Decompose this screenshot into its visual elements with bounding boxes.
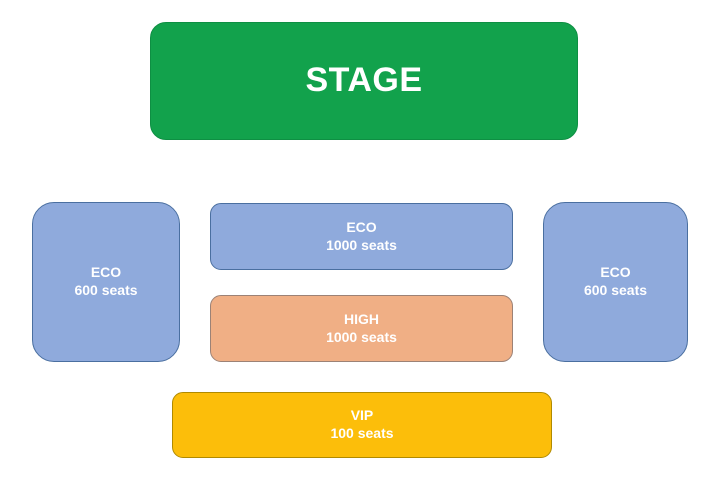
section-tier-label: VIP bbox=[351, 407, 374, 425]
section-eco-center[interactable]: ECO 1000 seats bbox=[210, 203, 513, 270]
section-vip-bottom[interactable]: VIP 100 seats bbox=[172, 392, 552, 458]
section-eco-right[interactable]: ECO 600 seats bbox=[543, 202, 688, 362]
section-capacity-label: 600 seats bbox=[584, 282, 647, 300]
section-capacity-label: 600 seats bbox=[74, 282, 137, 300]
section-tier-label: ECO bbox=[91, 264, 121, 282]
section-capacity-label: 100 seats bbox=[330, 425, 393, 443]
seating-map: STAGE ECO 600 seats ECO 1000 seats HIGH … bbox=[0, 0, 720, 480]
section-capacity-label: 1000 seats bbox=[326, 329, 397, 347]
stage-block[interactable]: STAGE bbox=[150, 22, 578, 140]
section-tier-label: HIGH bbox=[344, 311, 379, 329]
section-high-center[interactable]: HIGH 1000 seats bbox=[210, 295, 513, 362]
stage-label: STAGE bbox=[305, 59, 422, 103]
section-eco-left[interactable]: ECO 600 seats bbox=[32, 202, 180, 362]
section-capacity-label: 1000 seats bbox=[326, 237, 397, 255]
section-tier-label: ECO bbox=[600, 264, 630, 282]
section-tier-label: ECO bbox=[346, 219, 376, 237]
